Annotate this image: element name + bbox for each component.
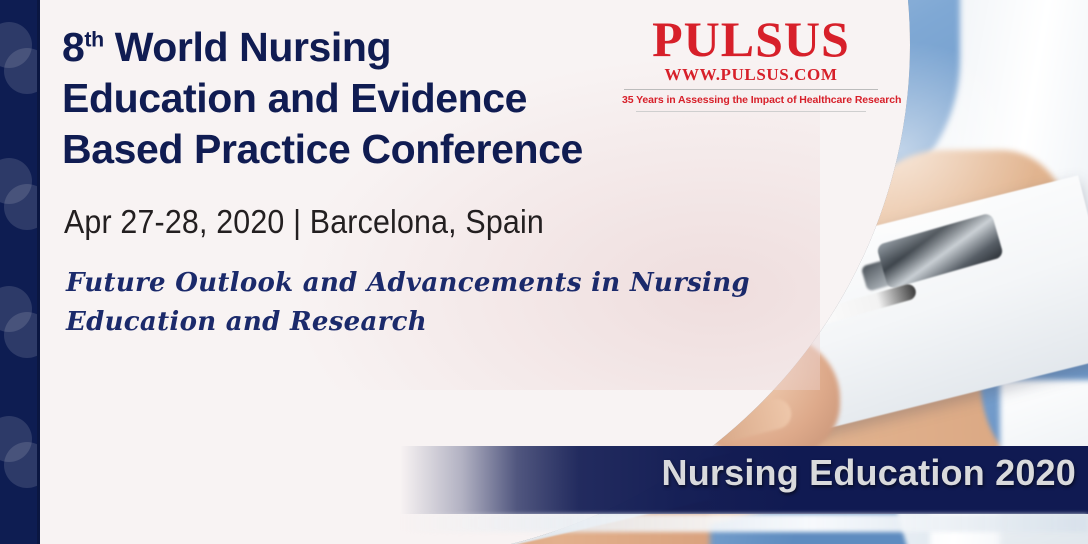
title-line3: Based Practice Conference bbox=[62, 126, 583, 172]
conference-theme: Future Outlook and Advancements in Nursi… bbox=[66, 264, 796, 342]
title-line1-rest: World Nursing bbox=[104, 24, 391, 70]
rail-bubble bbox=[4, 442, 37, 488]
ribbon-underglow bbox=[400, 514, 1088, 532]
rail-bubble bbox=[4, 312, 37, 358]
rail-bubble bbox=[4, 184, 37, 230]
date-venue-line: Apr 27-28, 2020 | Barcelona, Spain bbox=[64, 203, 544, 241]
event-short-name: Nursing Education 2020 bbox=[662, 452, 1077, 494]
pulsus-tagline: 35 Years in Assessing the Impact of Heal… bbox=[622, 93, 880, 107]
conference-banner: 8th World NursingEducation and EvidenceB… bbox=[0, 0, 1088, 544]
title-ordinal: 8 bbox=[62, 24, 84, 70]
logo-divider bbox=[624, 89, 878, 90]
pulsus-url: WWW.PULSUS.COM bbox=[622, 65, 880, 85]
left-rail-edge bbox=[37, 0, 40, 544]
rail-bubble bbox=[4, 48, 37, 94]
title-line2: Education and Evidence bbox=[62, 75, 527, 121]
title-ordinal-suffix: th bbox=[84, 27, 103, 51]
pulsus-logo[interactable]: PULSUS WWW.PULSUS.COM 35 Years in Assess… bbox=[622, 14, 880, 112]
pulsus-wordmark: PULSUS bbox=[622, 14, 880, 64]
logo-divider-lower bbox=[636, 111, 866, 112]
left-rail bbox=[0, 0, 37, 544]
